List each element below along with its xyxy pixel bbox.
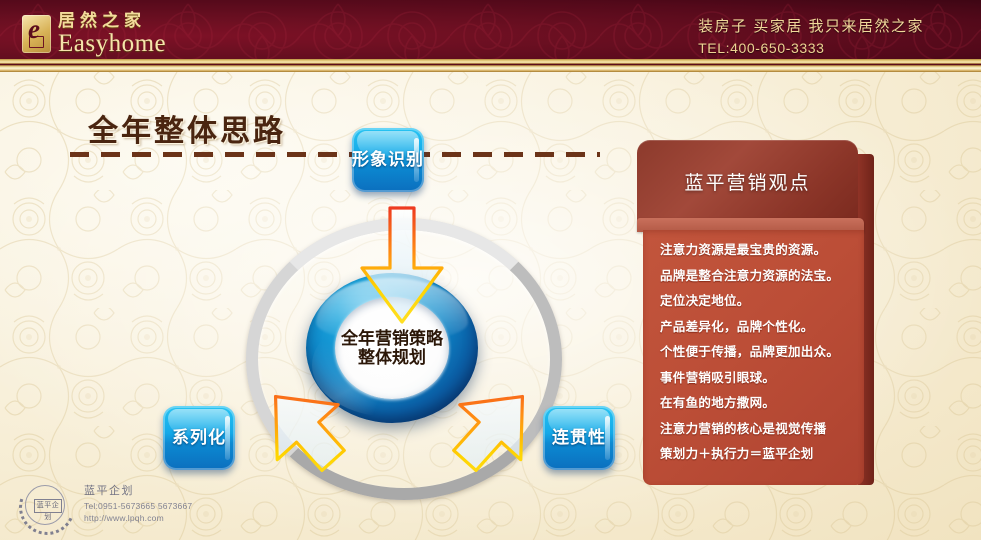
header-slogan-block: 装房子 买家居 我只来居然之家 TEL:400-650-3333: [698, 16, 924, 58]
lanping-crescent-icon: 蓝平企划: [16, 478, 74, 530]
viewpoint-panel: 蓝平营销观点 注意力资源是最宝贵的资源。品牌是整合注意力资源的法宝。定位决定地位…: [637, 140, 874, 485]
panel-line: 注意力营销的核心是视觉传播: [660, 423, 864, 436]
panel-body: 注意力资源是最宝贵的资源。品牌是整合注意力资源的法宝。定位决定地位。产品差异化，…: [643, 230, 864, 485]
header-gold-divider: [0, 59, 981, 72]
brand-name-en: Easyhome: [58, 31, 166, 56]
page-title: 全年整体思路: [88, 106, 286, 150]
node-image-identity[interactable]: 形象识别: [352, 128, 424, 192]
node-coherence-label: 连贯性: [552, 428, 606, 448]
panel-line: 品牌是整合注意力资源的法宝。: [660, 270, 864, 283]
arrow-down-icon: [352, 206, 452, 326]
diagram-center-label: 全年营销策略整体规划: [340, 329, 444, 367]
brand-logo[interactable]: 居然之家 Easyhome: [22, 12, 166, 56]
slide-canvas: 居然之家 Easyhome 装房子 买家居 我只来居然之家 TEL:400-65…: [0, 0, 981, 540]
footer-logo-mark-text: 蓝平企划: [34, 499, 62, 513]
node-series[interactable]: 系列化: [163, 406, 235, 470]
brand-logo-text: 居然之家 Easyhome: [58, 12, 166, 56]
panel-header: 蓝平营销观点: [637, 140, 858, 222]
panel-line: 策划力＋执行力＝蓝平企划: [660, 448, 864, 461]
title-dashed-rule: [70, 152, 600, 157]
arrow-up-right-icon: [238, 372, 368, 482]
panel-line: 定位决定地位。: [660, 295, 864, 308]
node-series-label: 系列化: [172, 428, 226, 448]
panel-line: 产品差异化，品牌个性化。: [660, 321, 864, 334]
panel-line: 个性便于传播，品牌更加出众。: [660, 346, 864, 359]
panel-line: 在有鱼的地方撒网。: [660, 397, 864, 410]
brand-name-cn: 居然之家: [58, 12, 166, 29]
node-coherence[interactable]: 连贯性: [543, 406, 615, 470]
easyhome-e-icon: [22, 15, 51, 53]
footer-credit: 蓝平企划 蓝平企划 Tel:0951-5673665 5673667 http:…: [16, 478, 192, 530]
header-phone: TEL:400-650-3333: [698, 38, 924, 58]
footer-url[interactable]: http://www.lpqh.com: [84, 512, 192, 524]
panel-title: 蓝平营销观点: [684, 168, 810, 195]
node-image-identity-label: 形象识别: [352, 150, 424, 170]
arrow-up-left-icon: [430, 372, 560, 482]
footer-company: 蓝平企划: [84, 484, 192, 500]
footer-phone: Tel:0951-5673665 5673667: [84, 500, 192, 512]
header-bar: 居然之家 Easyhome 装房子 买家居 我只来居然之家 TEL:400-65…: [0, 0, 981, 72]
footer-text-block: 蓝平企划 Tel:0951-5673665 5673667 http://www…: [84, 484, 192, 525]
panel-line: 事件营销吸引眼球。: [660, 372, 864, 385]
header-slogan: 装房子 买家居 我只来居然之家: [698, 16, 924, 38]
panel-line: 注意力资源是最宝贵的资源。: [660, 244, 864, 257]
